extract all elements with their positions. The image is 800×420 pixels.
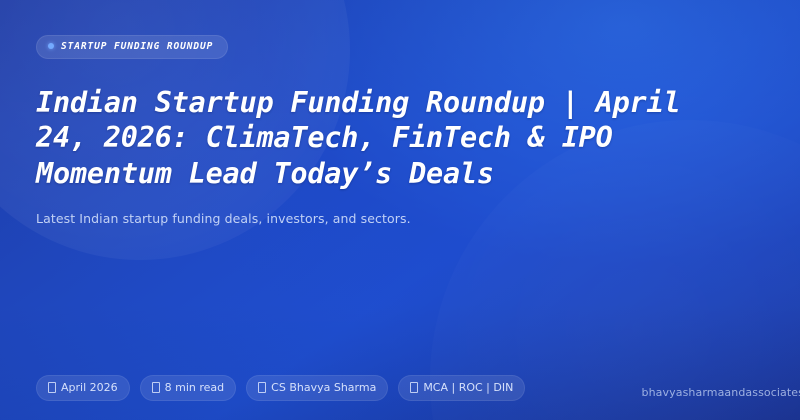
meta-chip-label: CS Bhavya Sharma [271, 381, 376, 394]
page-subtitle: Latest Indian startup funding deals, inv… [36, 210, 764, 229]
meta-chip-label: 8 min read [165, 381, 225, 394]
clock-icon [152, 382, 160, 393]
category-badge-label: STARTUP FUNDING ROUNDUP [61, 41, 213, 52]
tag-icon [410, 382, 418, 393]
meta-chip-date[interactable]: April 2026 [36, 375, 130, 401]
page-title: Indian Startup Funding Roundup | April 2… [36, 85, 748, 193]
meta-chip-readtime[interactable]: 8 min read [140, 375, 237, 401]
user-icon [258, 382, 266, 393]
category-badge[interactable]: STARTUP FUNDING ROUNDUP [36, 35, 228, 59]
meta-chip-author[interactable]: CS Bhavya Sharma [246, 375, 388, 401]
dot-icon [48, 43, 54, 49]
hero-banner: STARTUP FUNDING ROUNDUP Indian Startup F… [0, 0, 800, 420]
meta-chip-label: MCA | ROC | DIN [423, 381, 513, 394]
meta-chip-label: April 2026 [61, 381, 118, 394]
hero-content: STARTUP FUNDING ROUNDUP Indian Startup F… [36, 34, 764, 229]
site-watermark: bhavyasharmaandassociates [642, 386, 800, 399]
meta-chip-tags[interactable]: MCA | ROC | DIN [398, 375, 525, 401]
meta-chip-row: April 2026 8 min read CS Bhavya Sharma M… [36, 375, 525, 401]
calendar-icon [48, 382, 56, 393]
